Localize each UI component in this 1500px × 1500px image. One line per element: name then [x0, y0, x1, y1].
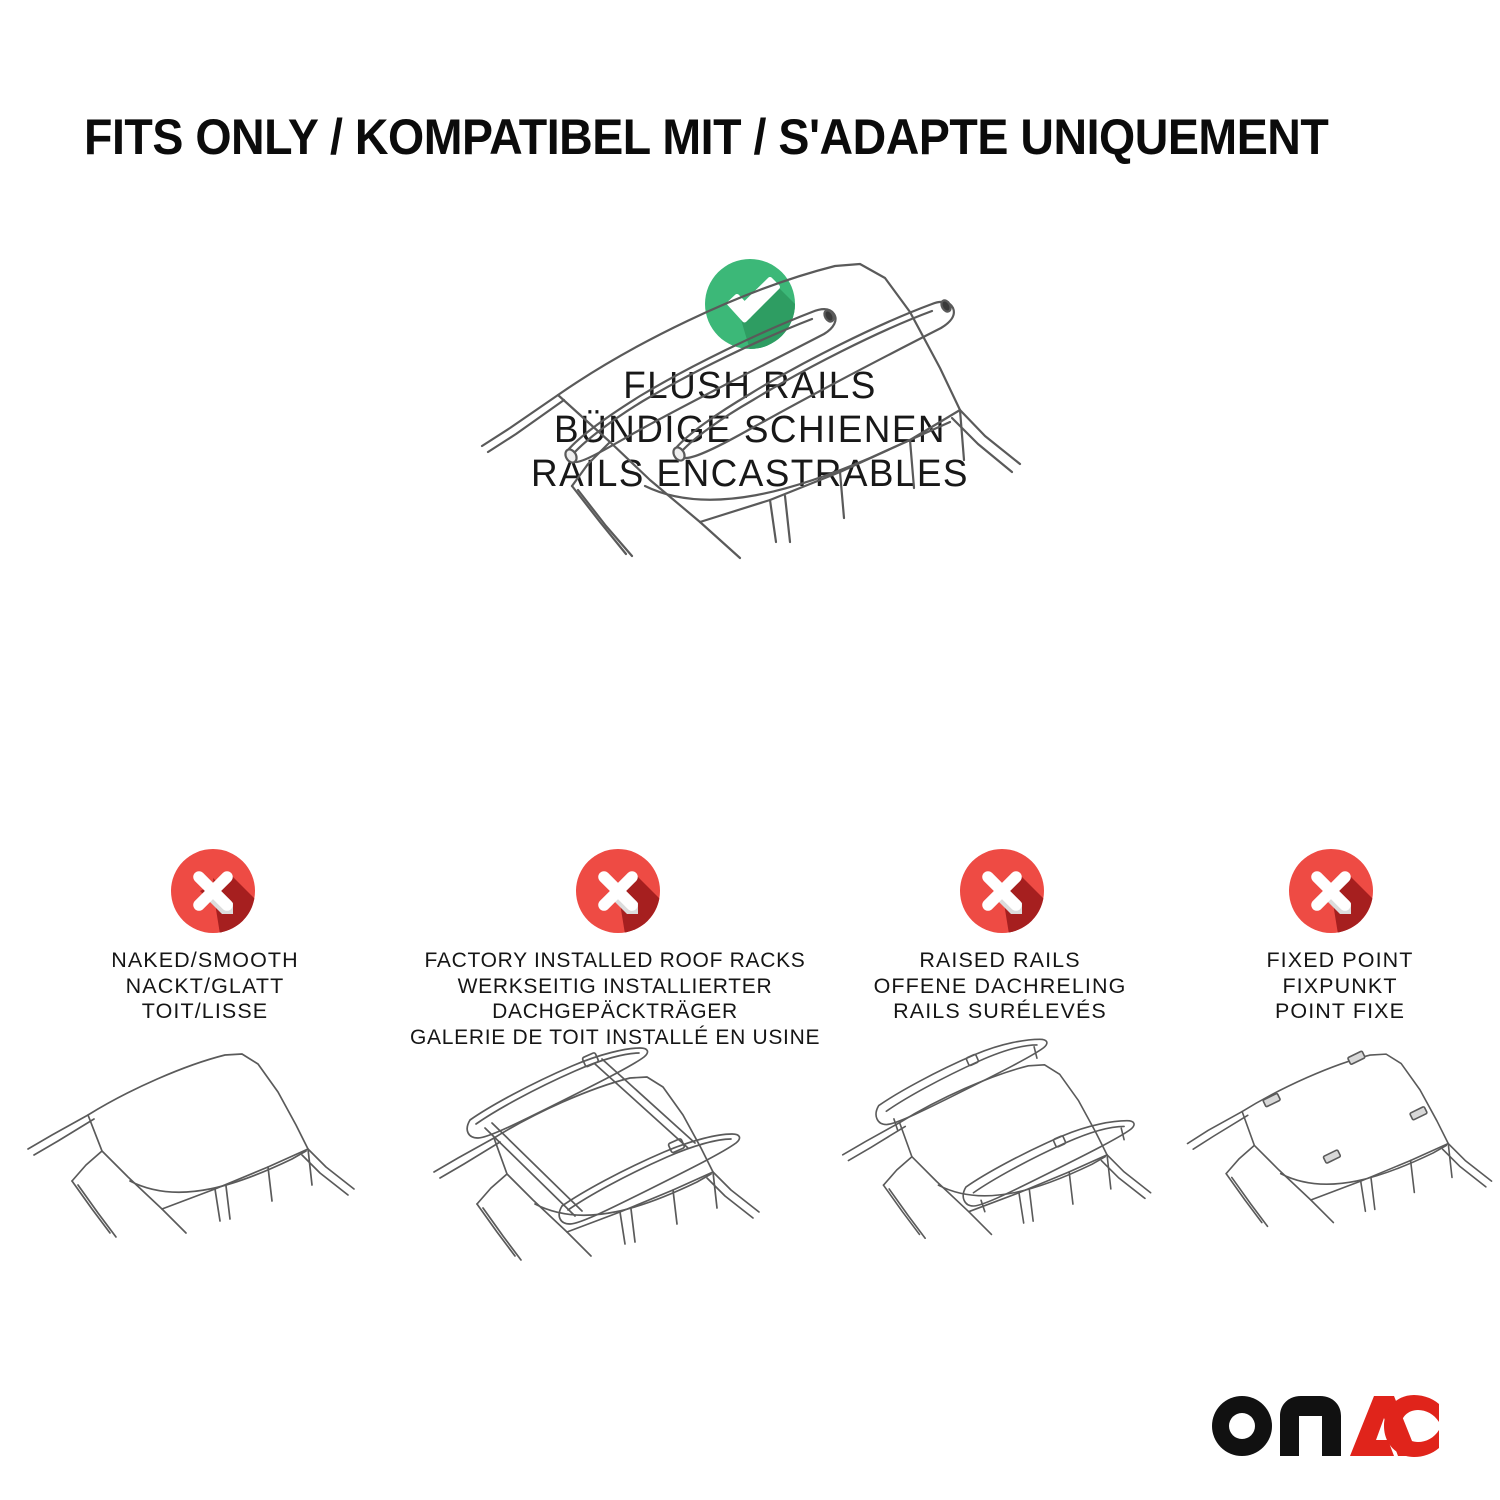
car-roof-flush-rails-illustration	[0, 250, 1500, 560]
label-line-fr: RAILS SURÉLEVÉS	[820, 999, 1180, 1025]
omac-logo	[1210, 1394, 1440, 1458]
cross-circle-icon	[1288, 848, 1374, 934]
label-line-en: RAISED RAILS	[820, 948, 1180, 974]
incompatible-column-factory-racks: FACTORY INSTALLED ROOF RACKS WERKSEITIG …	[400, 848, 820, 1292]
incompatible-sections: NAKED/SMOOTH NACKT/GLATT TOIT/LISSE	[0, 848, 1500, 1292]
car-roof-factory-racks-illustration	[400, 1062, 820, 1292]
cross-circle-icon	[575, 848, 661, 934]
label-line-en: FACTORY INSTALLED ROOF RACKS	[410, 948, 820, 974]
label-line-de: FIXPUNKT	[1180, 974, 1500, 1000]
logo-letter-o	[1212, 1396, 1272, 1456]
label-line-de-1: WERKSEITIG INSTALLIERTER	[410, 974, 820, 1000]
label-line-en: FIXED POINT	[1180, 948, 1500, 974]
page-title: FITS ONLY / KOMPATIBEL MIT / S'ADAPTE UN…	[84, 108, 1330, 166]
label-line-fr: POINT FIXE	[1180, 999, 1500, 1025]
cross-circle-icon	[959, 848, 1045, 934]
incompatible-labels: FACTORY INSTALLED ROOF RACKS WERKSEITIG …	[400, 948, 820, 1050]
car-roof-raised-rails-illustration	[820, 1037, 1180, 1267]
incompatible-labels: FIXED POINT FIXPUNKT POINT FIXE	[1180, 948, 1500, 1025]
car-roof-naked-smooth-illustration	[0, 1037, 400, 1267]
incompatible-column-naked-smooth: NAKED/SMOOTH NACKT/GLATT TOIT/LISSE	[0, 848, 400, 1267]
cross-circle-icon	[170, 848, 256, 934]
incompatible-column-fixed-point: FIXED POINT FIXPUNKT POINT FIXE	[1180, 848, 1500, 1267]
label-line-fr: TOIT/LISSE	[10, 999, 400, 1025]
label-line-de-2: DACHGEPÄCKTRÄGER	[410, 999, 820, 1025]
label-line-en: NAKED/SMOOTH	[10, 948, 400, 974]
logo-letter-c	[1384, 1395, 1439, 1457]
label-line-de: OFFENE DACHRELING	[820, 974, 1180, 1000]
logo-letter-m	[1280, 1396, 1341, 1456]
incompatible-labels: NAKED/SMOOTH NACKT/GLATT TOIT/LISSE	[0, 948, 400, 1025]
incompatible-column-raised-rails: RAISED RAILS OFFENE DACHRELING RAILS SUR…	[820, 848, 1180, 1267]
label-line-de: NACKT/GLATT	[10, 974, 400, 1000]
incompatible-labels: RAISED RAILS OFFENE DACHRELING RAILS SUR…	[820, 948, 1180, 1025]
car-roof-fixed-point-illustration	[1180, 1037, 1500, 1267]
